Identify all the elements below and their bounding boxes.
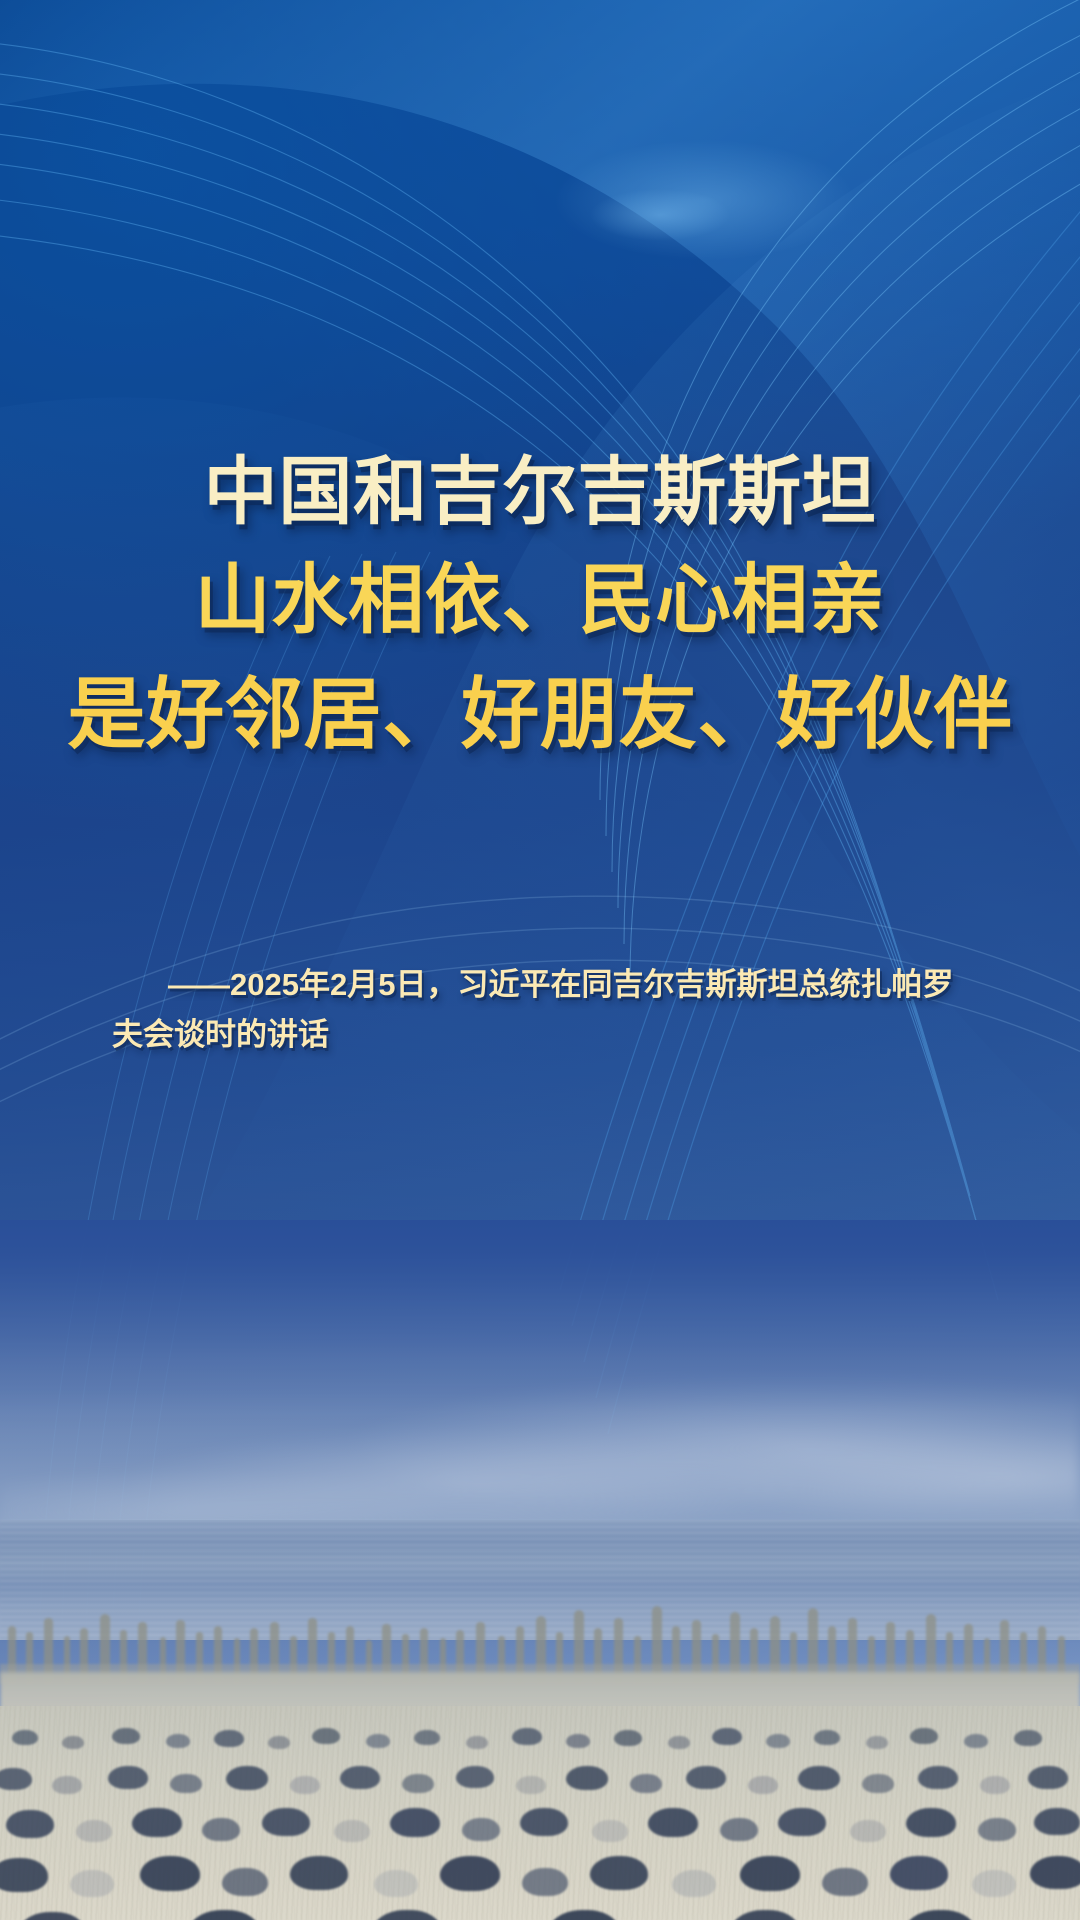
headline-line-3: 是好邻居、好朋友、好伙伴 (0, 675, 1080, 753)
attribution-text: ——2025年2月5日，习近平在同吉尔吉斯斯坦总统扎帕罗夫会谈时的讲话 (112, 960, 972, 1060)
pasture-photo (0, 1220, 1080, 1920)
headline-line-2: 山水相依、民心相亲 (0, 563, 1080, 639)
headline-block: 中国和吉尔吉斯斯坦 山水相依、民心相亲 是好邻居、好朋友、好伙伴 (0, 455, 1080, 753)
headline-line-1: 中国和吉尔吉斯斯坦 (0, 455, 1080, 529)
quote-poster: 中国和吉尔吉斯斯坦 山水相依、民心相亲 是好邻居、好朋友、好伙伴 ——2025年… (0, 0, 1080, 1920)
photo-blend-fade (0, 1220, 1080, 1460)
